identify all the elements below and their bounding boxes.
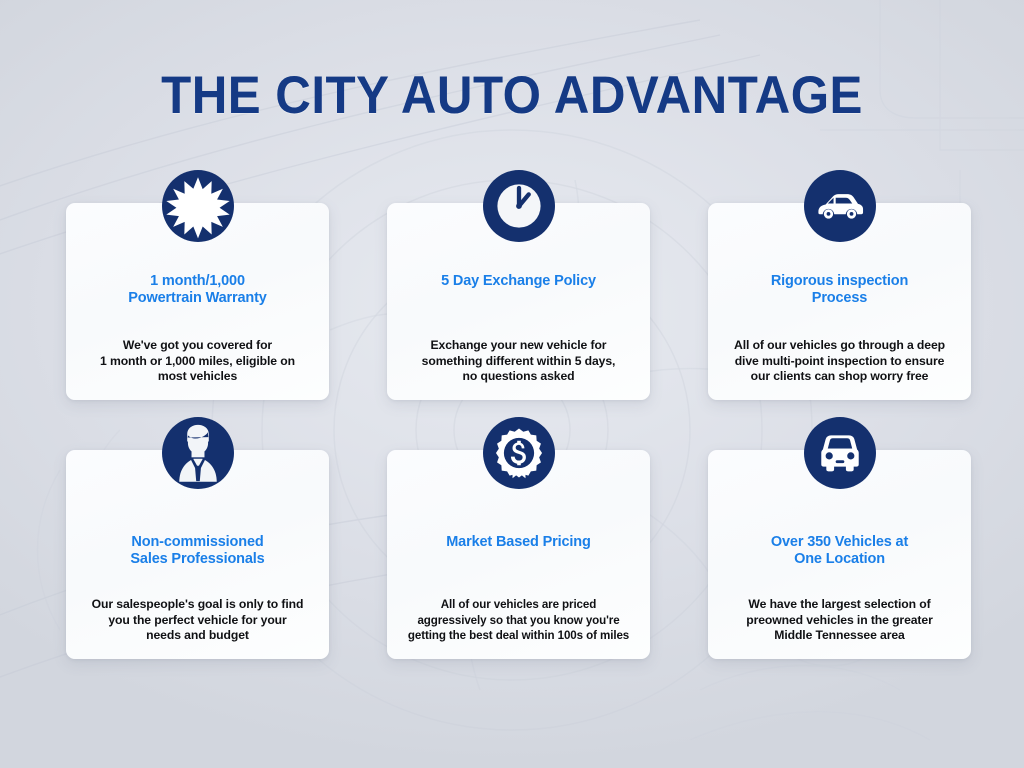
card-heading-line2: Sales Professionals bbox=[130, 551, 264, 567]
card-body-line2: something different within 5 days, bbox=[422, 354, 616, 368]
card-heading-line1: Over 350 Vehicles at bbox=[771, 534, 908, 550]
card-heading-line2: Powertrain Warranty bbox=[128, 290, 266, 306]
card-heading-line1: 5 Day Exchange Policy bbox=[441, 273, 596, 289]
card-body: We have the largest selection of preowne… bbox=[718, 597, 961, 643]
card-heading: 1 month/1,000 Powertrain Warranty bbox=[74, 273, 321, 307]
card-body-line1: We've got you covered for bbox=[123, 338, 272, 352]
card-body-line1: All of our vehicles are priced bbox=[441, 598, 597, 611]
car-front-icon bbox=[804, 417, 876, 489]
card-body-line1: Exchange your new vehicle for bbox=[431, 338, 607, 352]
advantage-card-powertrain-warranty[interactable]: 1 month/1,000 Powertrain Warranty We've … bbox=[66, 203, 329, 400]
card-body: Exchange your new vehicle for something … bbox=[397, 338, 640, 384]
card-body-line2: dive multi-point inspection to ensure bbox=[735, 354, 945, 368]
card-body: Our salespeople's goal is only to find y… bbox=[76, 597, 319, 643]
salesperson-icon bbox=[162, 417, 234, 489]
starburst-icon bbox=[162, 170, 234, 242]
card-heading-line1: Rigorous inspection bbox=[771, 273, 908, 289]
card-heading: Over 350 Vehicles at One Location bbox=[716, 534, 963, 568]
card-body-line2: 1 month or 1,000 miles, eligible on bbox=[100, 354, 295, 368]
car-side-icon bbox=[804, 170, 876, 242]
card-body-line3: most vehicles bbox=[158, 369, 237, 383]
advantage-card-sales-professionals[interactable]: Non-commissioned Sales Professionals Our… bbox=[66, 450, 329, 659]
advantage-card-exchange-policy[interactable]: 5 Day Exchange Policy Exchange your new … bbox=[387, 203, 650, 400]
advantages-grid: 1 month/1,000 Powertrain Warranty We've … bbox=[66, 203, 972, 659]
card-heading-line1: Market Based Pricing bbox=[446, 534, 590, 550]
card-body-line1: We have the largest selection of bbox=[748, 597, 930, 611]
card-body: All of our vehicles are priced aggressiv… bbox=[397, 597, 640, 643]
card-body-line2: preowned vehicles in the greater bbox=[746, 613, 932, 627]
card-body-line1: All of our vehicles go through a deep bbox=[734, 338, 945, 352]
card-body-line3: needs and budget bbox=[146, 628, 249, 642]
card-heading: 5 Day Exchange Policy bbox=[395, 273, 642, 290]
card-body: All of our vehicles go through a deep di… bbox=[718, 338, 961, 384]
advantage-card-market-pricing[interactable]: Market Based Pricing All of our vehicles… bbox=[387, 450, 650, 659]
dollar-badge-icon bbox=[483, 417, 555, 489]
advantage-card-inspection-process[interactable]: Rigorous inspection Process All of our v… bbox=[708, 203, 971, 400]
card-body-line3: getting the best deal within 100s of mil… bbox=[408, 629, 629, 642]
card-heading: Non-commissioned Sales Professionals bbox=[74, 534, 321, 568]
page-title: THE CITY AUTO ADVANTAGE bbox=[36, 66, 988, 126]
card-body-line3: no questions asked bbox=[463, 369, 575, 383]
card-heading: Rigorous inspection Process bbox=[716, 273, 963, 307]
card-body-line2: aggressively so that you know you're bbox=[417, 614, 619, 627]
card-body: We've got you covered for 1 month or 1,0… bbox=[76, 338, 319, 384]
card-body-line1: Our salespeople's goal is only to find bbox=[92, 597, 304, 611]
clock-icon bbox=[483, 170, 555, 242]
card-body-line2: you the perfect vehicle for your bbox=[108, 613, 286, 627]
card-body-line3: our clients can shop worry free bbox=[751, 369, 929, 383]
card-heading: Market Based Pricing bbox=[395, 534, 642, 551]
card-heading-line2: Process bbox=[812, 290, 867, 306]
card-body-line3: Middle Tennessee area bbox=[774, 628, 904, 642]
card-heading-line1: Non-commissioned bbox=[131, 534, 263, 550]
card-heading-line2: One Location bbox=[794, 551, 885, 567]
advantage-card-inventory-size[interactable]: Over 350 Vehicles at One Location We hav… bbox=[708, 450, 971, 659]
card-heading-line1: 1 month/1,000 bbox=[150, 273, 245, 289]
